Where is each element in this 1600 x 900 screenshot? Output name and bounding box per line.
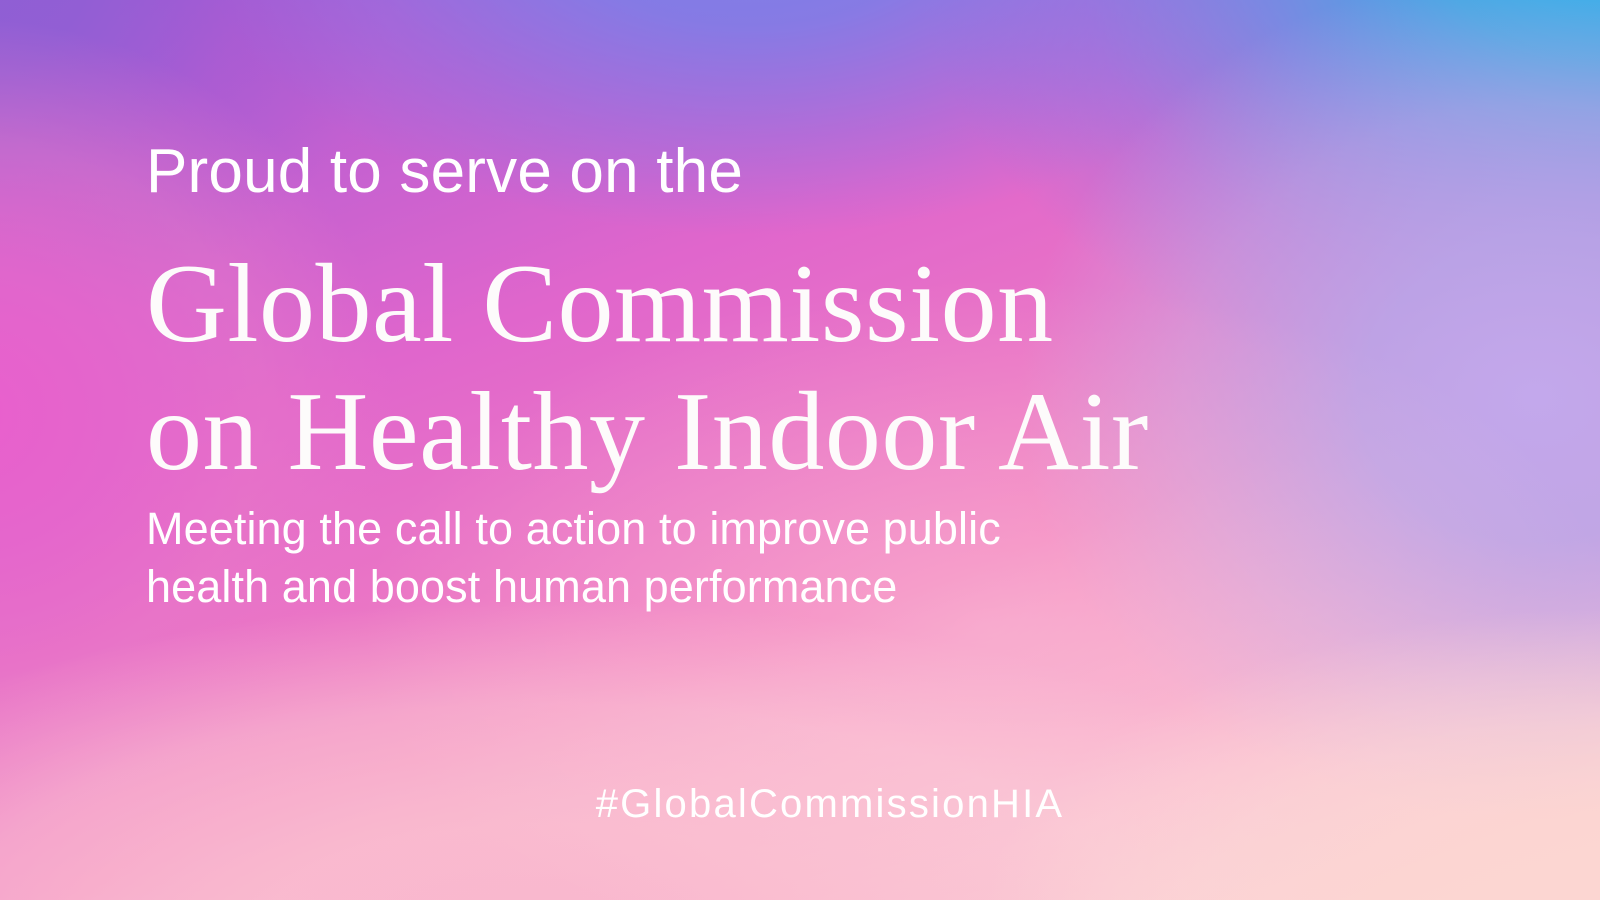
subtitle-line-1: Meeting the call to action to improve pu… — [146, 500, 1001, 558]
subtitle-line-2: health and boost human performance — [146, 558, 1001, 616]
subtitle: Meeting the call to action to improve pu… — [146, 500, 1001, 616]
eyebrow-text: Proud to serve on the — [146, 141, 743, 203]
headline-line-2: on Healthy Indoor Air — [146, 368, 1149, 496]
social-graphic-card: Proud to serve on the Global Commission … — [0, 0, 1600, 900]
hashtag-text: #GlobalCommissionHIA — [0, 780, 1600, 828]
page-title: Global Commission on Healthy Indoor Air — [146, 240, 1149, 496]
card-content: Proud to serve on the Global Commission … — [0, 0, 1600, 900]
headline-line-1: Global Commission — [146, 240, 1149, 368]
